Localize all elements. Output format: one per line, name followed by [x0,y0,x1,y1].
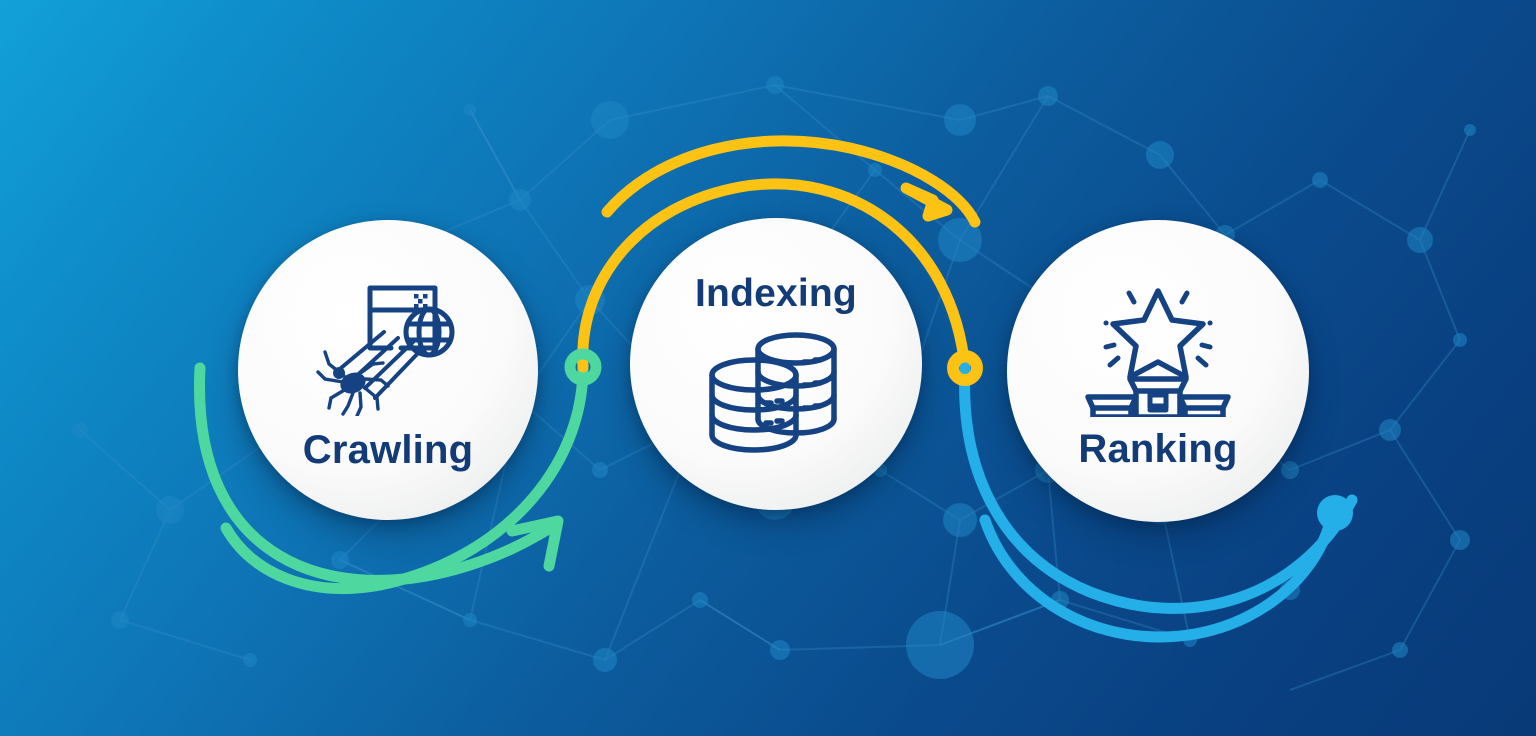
database-stack-icon [706,323,846,455]
spider-crawler-icon [313,276,463,416]
step-card-ranking[interactable]: Ranking [1007,220,1309,522]
step-card-crawling[interactable]: Crawling [238,220,538,520]
joint-cyan-dot [1317,495,1353,531]
star-podium-icon [1084,277,1232,417]
step-card-indexing[interactable]: Indexing [630,218,922,510]
step-label-ranking: Ranking [1078,429,1237,469]
step-label-crawling: Crawling [303,430,474,470]
step-label-indexing: Indexing [695,274,857,313]
infographic-canvas: Crawling [0,0,1536,736]
